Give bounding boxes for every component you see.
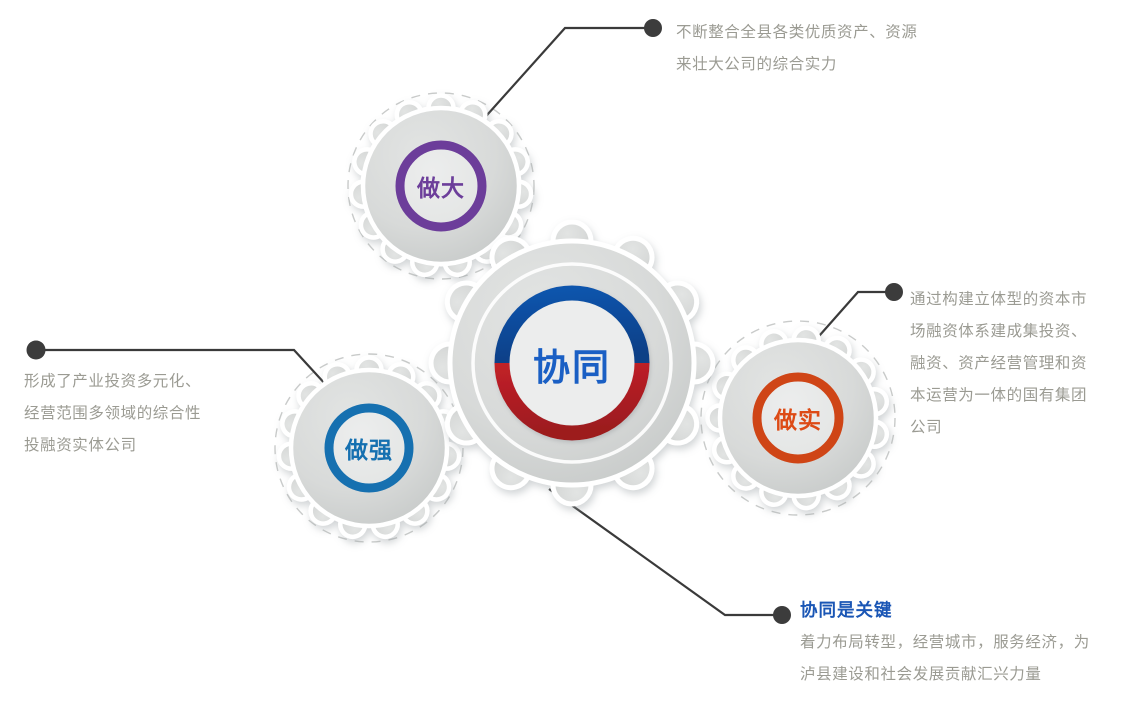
callout-left-line-1: 形成了产业投资多元化、 (24, 366, 201, 398)
gear-center-label: 协同 (533, 337, 611, 391)
callout-right-line-3: 融资、资产经营管理和资 (910, 348, 1087, 380)
connector-dot-bottom (773, 606, 791, 624)
callout-left-line-2: 经营范围多领域的综合性 (24, 398, 201, 430)
infographic-canvas: 协同 做大 做强 做实 不断整合全县各类优质资产、资源 来壮大公司的综合实力 通… (0, 0, 1136, 703)
gear-big-label: 做大 (417, 169, 465, 203)
callout-left-line-3: 投融资实体公司 (24, 430, 201, 462)
connector-dot-left (27, 341, 46, 360)
callout-bottom-headline: 协同是关键 (800, 597, 1090, 623)
callout-right: 通过构建立体型的资本市 场融资体系建成集投资、 融资、资产经营管理和资 本运营为… (910, 284, 1087, 444)
connector-bottom (549, 489, 778, 615)
callout-bottom-line-2: 泸县建设和社会发展贡献汇兴力量 (800, 659, 1090, 691)
callout-top: 不断整合全县各类优质资产、资源 来壮大公司的综合实力 (676, 17, 918, 81)
callout-bottom-line-1: 着力布局转型，经营城市，服务经济，为 (800, 627, 1090, 659)
gear-strong-label: 做强 (345, 431, 393, 465)
callout-bottom: 协同是关键 着力布局转型，经营城市，服务经济，为 泸县建设和社会发展贡献汇兴力量 (800, 597, 1090, 691)
connector-top (479, 28, 648, 124)
gear-real-label: 做实 (774, 401, 822, 435)
connector-dot-top (644, 19, 662, 37)
callout-top-line-2: 来壮大公司的综合实力 (676, 49, 918, 81)
callout-top-line-1: 不断整合全县各类优质资产、资源 (676, 17, 918, 49)
callout-left: 形成了产业投资多元化、 经营范围多领域的综合性 投融资实体公司 (24, 366, 201, 462)
callout-right-line-5: 公司 (910, 412, 1087, 444)
callout-right-line-1: 通过构建立体型的资本市 (910, 284, 1087, 316)
callout-right-line-2: 场融资体系建成集投资、 (910, 316, 1087, 348)
callout-right-line-4: 本运营为一体的国有集团 (910, 380, 1087, 412)
connector-dot-right (885, 283, 903, 301)
